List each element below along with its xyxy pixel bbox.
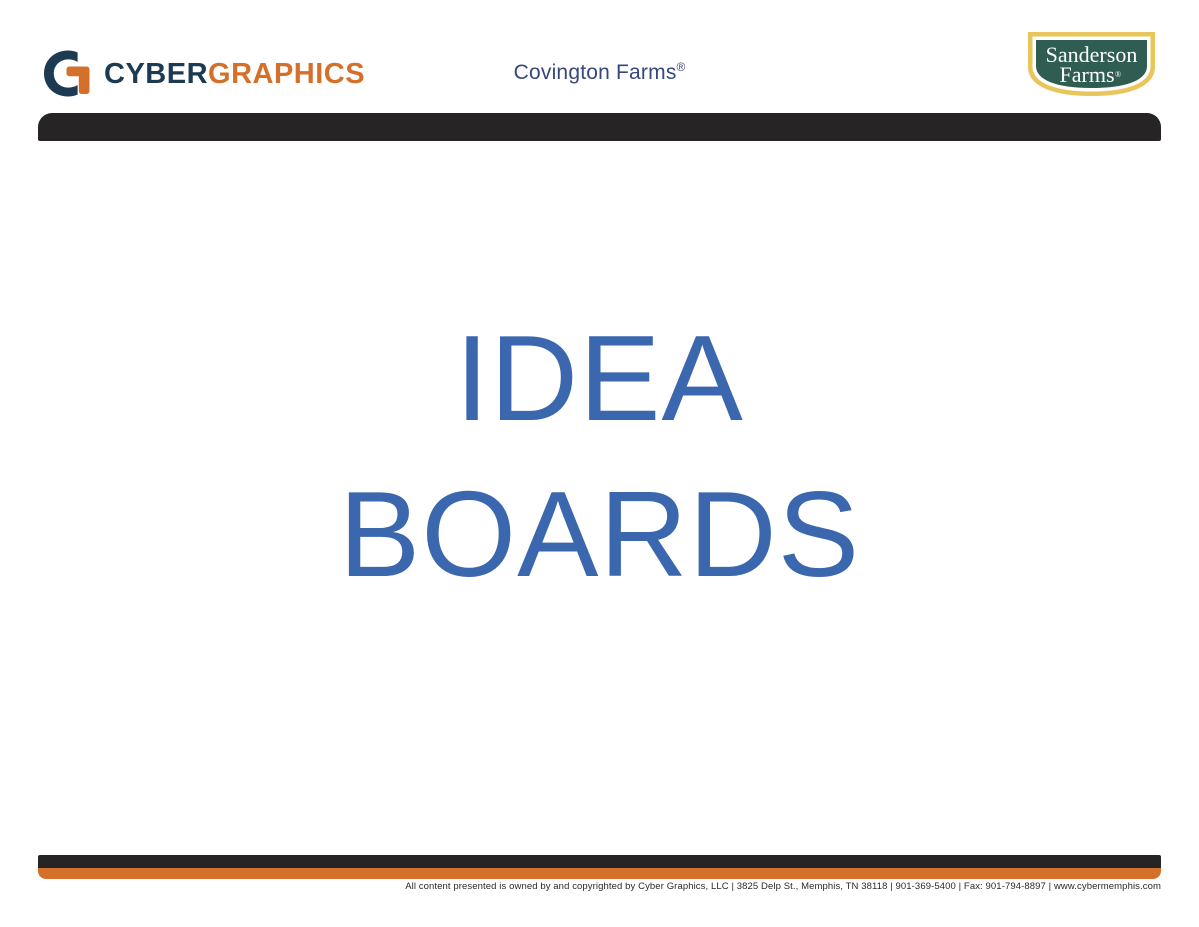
brand-title-text: Covington Farms xyxy=(514,61,677,84)
slide-canvas: CYBERGRAPHICS Covington Farms® Sanderson… xyxy=(0,0,1199,927)
sanderson-farms-logo[interactable]: Sanderson Farms ® xyxy=(1025,29,1158,99)
slide-header: CYBERGRAPHICS Covington Farms® Sanderson… xyxy=(0,0,1199,113)
registered-trademark-mark: ® xyxy=(677,60,686,74)
sanderson-farms-shield-icon: Sanderson Farms ® xyxy=(1025,29,1158,99)
hero-section: IDEA BOARDS xyxy=(0,300,1199,612)
footer-divider-bar-dark xyxy=(38,855,1161,868)
hero-title-line-1: IDEA xyxy=(0,300,1199,456)
farms-text: Farms xyxy=(1060,62,1115,87)
footer-legal-text: All content presented is owned by and co… xyxy=(0,881,1161,892)
header-divider-bar xyxy=(38,113,1161,141)
hero-title-line-2: BOARDS xyxy=(0,456,1199,612)
footer-divider-bar-orange xyxy=(38,868,1161,879)
farms-registered-mark: ® xyxy=(1115,70,1121,79)
page-title: Covington Farms® xyxy=(0,60,1199,85)
